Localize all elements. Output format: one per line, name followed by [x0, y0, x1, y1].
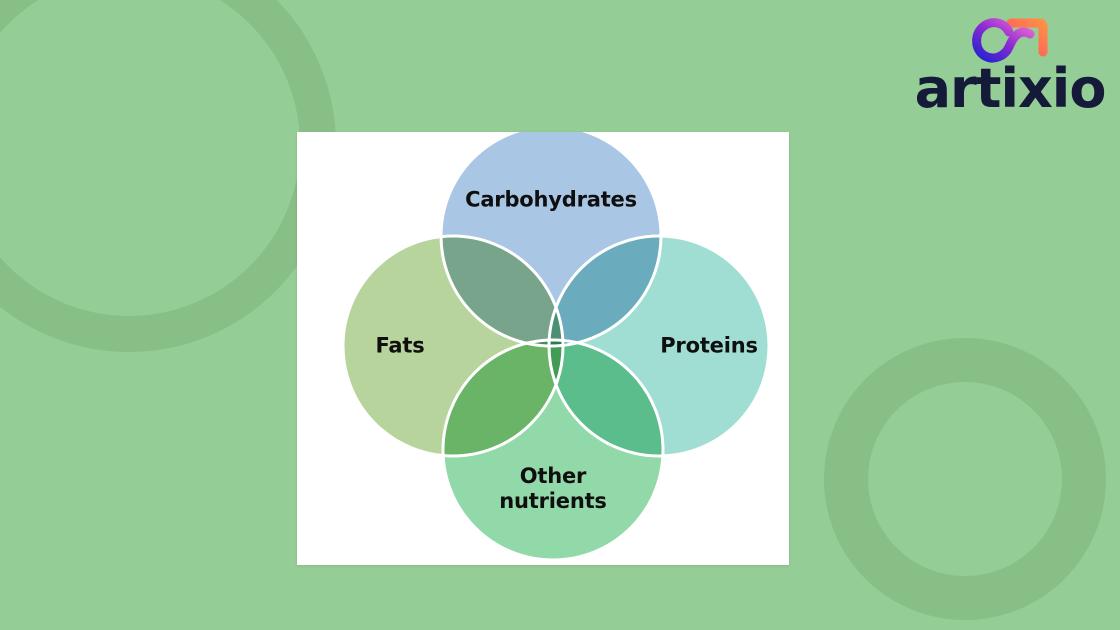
diagram-panel: Carbohydrates Fats Proteins Other nutrie… — [297, 132, 789, 565]
venn-circles-svg — [297, 132, 789, 565]
brand-logo: artixio — [930, 14, 1090, 114]
decor-ring-top-left — [0, 0, 336, 352]
brand-wordmark: artixio — [915, 64, 1106, 114]
decor-ring-bottom-right — [824, 338, 1106, 620]
venn-diagram: Carbohydrates Fats Proteins Other nutrie… — [297, 132, 789, 565]
